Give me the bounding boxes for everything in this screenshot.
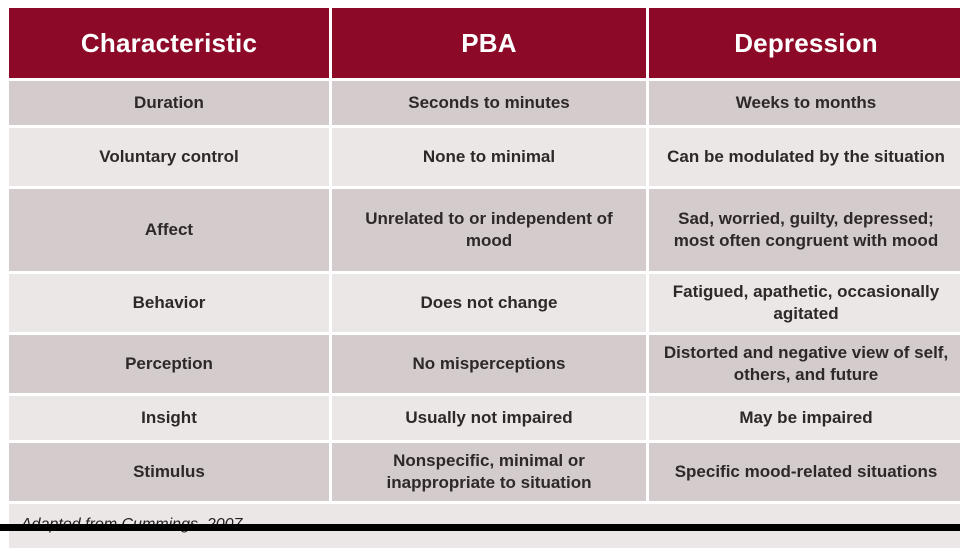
cell-pba: None to minimal bbox=[332, 128, 646, 186]
bottom-black-bar bbox=[0, 524, 960, 531]
cell-depression: Fatigued, apathetic, occasionally agitat… bbox=[649, 274, 960, 332]
cell-pba: Unrelated to or independent of mood bbox=[332, 189, 646, 271]
cell-depression: Can be modulated by the situation bbox=[649, 128, 960, 186]
cell-pba: No misperceptions bbox=[332, 335, 646, 393]
pba-vs-depression-table: Characteristic PBA Depression Duration S… bbox=[6, 5, 960, 551]
table-row: Perception No misperceptions Distorted a… bbox=[9, 335, 960, 393]
table-row: Behavior Does not change Fatigued, apath… bbox=[9, 274, 960, 332]
cell-characteristic: Voluntary control bbox=[9, 128, 329, 186]
table-body: Duration Seconds to minutes Weeks to mon… bbox=[9, 81, 960, 501]
cell-depression: May be impaired bbox=[649, 396, 960, 440]
table-row: Voluntary control None to minimal Can be… bbox=[9, 128, 960, 186]
cell-characteristic: Affect bbox=[9, 189, 329, 271]
table-header: Characteristic PBA Depression bbox=[9, 8, 960, 78]
cell-characteristic: Stimulus bbox=[9, 443, 329, 501]
table-row: Affect Unrelated to or independent of mo… bbox=[9, 189, 960, 271]
column-header-depression: Depression bbox=[649, 8, 960, 78]
cell-pba: Nonspecific, minimal or inappropriate to… bbox=[332, 443, 646, 501]
cell-characteristic: Behavior bbox=[9, 274, 329, 332]
cell-depression: Sad, worried, guilty, depressed; most of… bbox=[649, 189, 960, 271]
cell-pba: Does not change bbox=[332, 274, 646, 332]
cell-depression: Weeks to months bbox=[649, 81, 960, 125]
cell-pba: Seconds to minutes bbox=[332, 81, 646, 125]
cell-characteristic: Duration bbox=[9, 81, 329, 125]
page-canvas: Characteristic PBA Depression Duration S… bbox=[0, 0, 960, 531]
cell-depression: Distorted and negative view of self, oth… bbox=[649, 335, 960, 393]
table-header-row: Characteristic PBA Depression bbox=[9, 8, 960, 78]
cell-characteristic: Insight bbox=[9, 396, 329, 440]
cell-pba: Usually not impaired bbox=[332, 396, 646, 440]
table-row: Stimulus Nonspecific, minimal or inappro… bbox=[9, 443, 960, 501]
column-header-pba: PBA bbox=[332, 8, 646, 78]
cell-depression: Specific mood-related situations bbox=[649, 443, 960, 501]
column-header-characteristic: Characteristic bbox=[9, 8, 329, 78]
table-row: Insight Usually not impaired May be impa… bbox=[9, 396, 960, 440]
comparison-table-container: Characteristic PBA Depression Duration S… bbox=[6, 5, 954, 520]
cell-characteristic: Perception bbox=[9, 335, 329, 393]
table-row: Duration Seconds to minutes Weeks to mon… bbox=[9, 81, 960, 125]
